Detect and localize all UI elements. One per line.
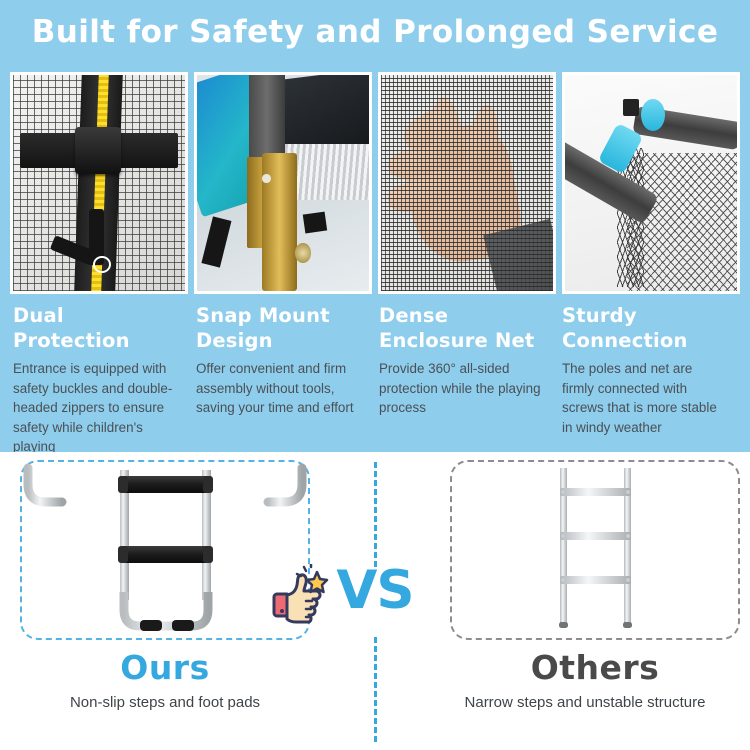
comparison-section: VS Ours Others Non-slip steps and foot p… (0, 452, 750, 750)
others-label: Others (450, 648, 740, 687)
others-ladder-illustration (452, 462, 738, 638)
feature-column-dense-net: Dense Enclosure Net Provide 360° all-sid… (379, 303, 556, 457)
ours-label: Ours (20, 648, 310, 687)
features-section: Built for Safety and Prolonged Service (0, 0, 750, 452)
pole-connection-photo (562, 72, 740, 294)
vs-divider-bottom (374, 637, 377, 742)
ours-product-box (20, 460, 310, 640)
feature-title: Dual Protection (13, 303, 178, 353)
ours-caption: Non-slip steps and foot pads (0, 694, 330, 711)
safety-buckle (75, 127, 121, 175)
others-product-box (450, 460, 740, 640)
feature-text-columns: Dual Protection Entrance is equipped wit… (13, 303, 739, 457)
net-tab-right (302, 212, 327, 234)
feature-description: Provide 360° all-sided protection while … (379, 359, 544, 418)
page-title: Built for Safety and Prolonged Service (0, 14, 750, 50)
feature-title: Snap Mount Design (196, 303, 361, 353)
screw-cap (623, 99, 638, 116)
vs-label: VS (300, 560, 450, 621)
dense-net-photo (378, 72, 556, 294)
rivet (262, 174, 271, 183)
blue-clip-upper (641, 99, 665, 131)
feature-description: Offer convenient and firm assembly witho… (196, 359, 361, 418)
enclosure-net (627, 153, 737, 291)
vs-divider-top (374, 462, 377, 567)
feature-description: The poles and net are firmly connected w… (562, 359, 727, 437)
feature-title: Dense Enclosure Net (379, 303, 544, 353)
feature-description: Entrance is equipped with safety buckles… (13, 359, 178, 457)
dense-mesh-overlay (381, 75, 553, 291)
feature-column-dual-protection: Dual Protection Entrance is equipped wit… (13, 303, 190, 457)
feature-photo-strip (10, 72, 740, 294)
snap-mount-photo (194, 72, 372, 294)
feature-column-sturdy-connection: Sturdy Connection The poles and net are … (562, 303, 739, 457)
feature-title: Sturdy Connection (562, 303, 727, 353)
zipper-buckle-photo (10, 72, 188, 294)
others-caption: Narrow steps and unstable structure (420, 694, 750, 711)
feature-column-snap-mount: Snap Mount Design Offer convenient and f… (196, 303, 373, 457)
screw-head (295, 243, 310, 262)
